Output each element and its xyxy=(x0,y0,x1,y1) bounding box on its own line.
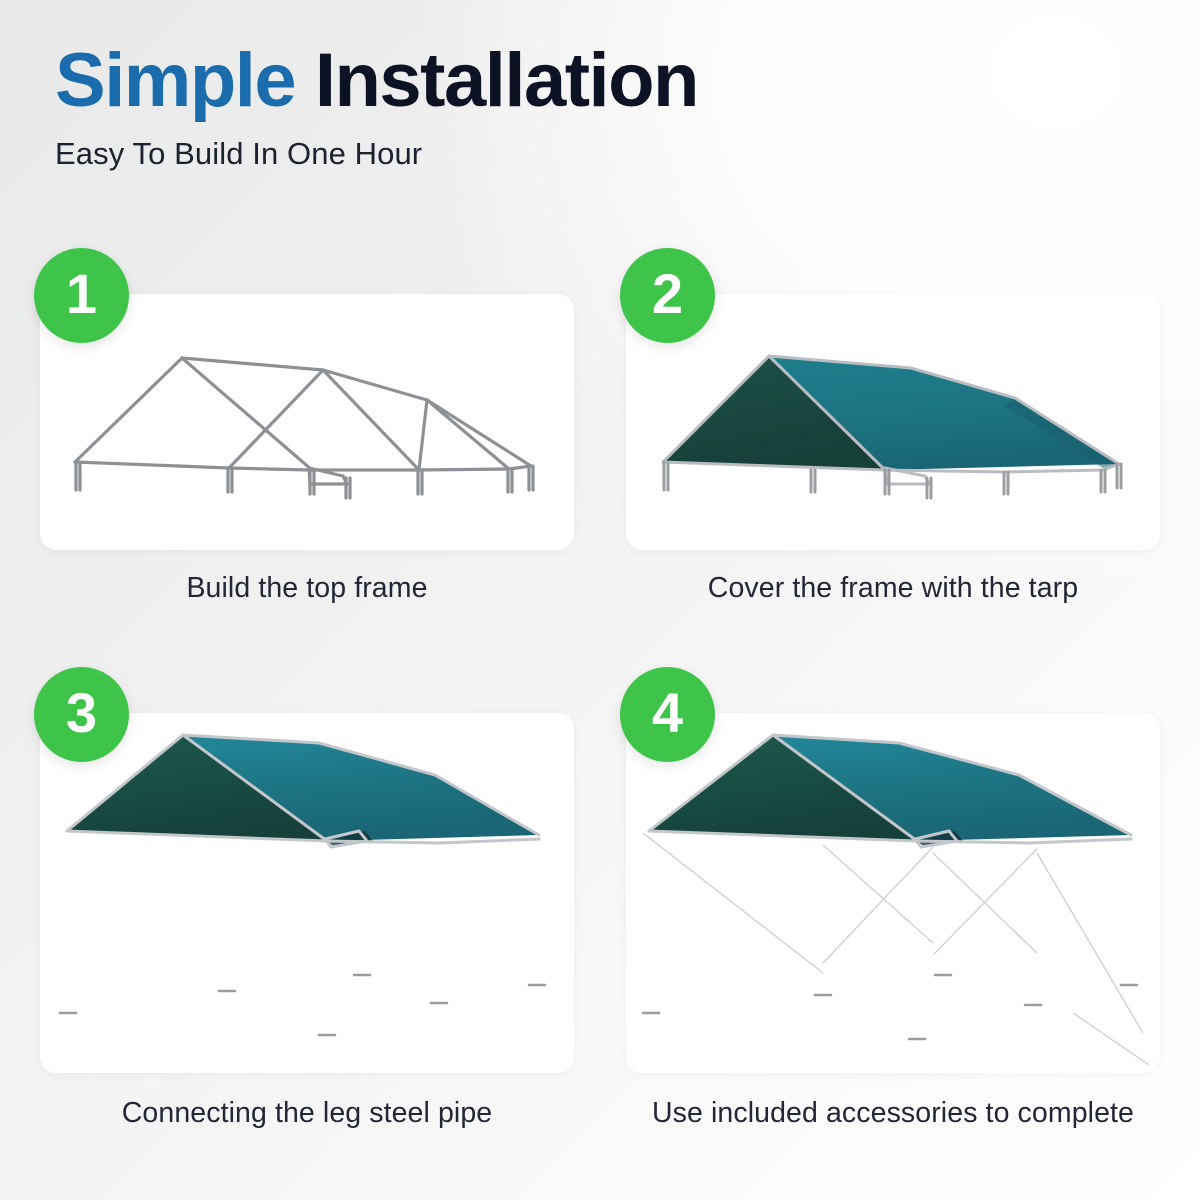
step-caption-2: Cover the frame with the tarp xyxy=(626,550,1160,605)
page-title-rest: Installation xyxy=(315,38,698,123)
step-illustration-card-1 xyxy=(40,294,574,550)
canopy-top-frame-skeleton-illustration xyxy=(40,294,574,550)
step-card-2: 2 xyxy=(626,248,1160,605)
step-caption-3: Connecting the leg steel pipe xyxy=(40,1073,574,1130)
page-title-highlight: Simple xyxy=(55,38,295,123)
page-subtitle: Easy To Build In One Hour xyxy=(55,118,1055,172)
step-illustration-card-4 xyxy=(626,713,1160,1073)
step-illustration-card-3 xyxy=(40,713,574,1073)
step-card-3: 3 xyxy=(40,667,574,1130)
canopy-with-legs-illustration xyxy=(40,713,574,1073)
step-number-badge-2: 2 xyxy=(620,248,715,343)
step-card-4: 4 xyxy=(626,667,1160,1130)
canopy-complete-with-guy-wires-illustration xyxy=(626,713,1160,1073)
steps-grid: 1 xyxy=(0,248,1200,1130)
infographic-page: Simple Installation Easy To Build In One… xyxy=(0,0,1200,1200)
canopy-frame-with-tarp-illustration xyxy=(626,294,1160,550)
step-number-badge-4: 4 xyxy=(620,667,715,762)
step-caption-4: Use included accessories to complete xyxy=(626,1073,1160,1130)
step-illustration-card-2 xyxy=(626,294,1160,550)
step-card-1: 1 xyxy=(40,248,574,605)
step-number-badge-3: 3 xyxy=(34,667,129,762)
page-header: Simple Installation Easy To Build In One… xyxy=(55,44,1055,172)
page-title: Simple Installation xyxy=(55,44,1055,118)
step-caption-1: Build the top frame xyxy=(40,550,574,605)
step-number-badge-1: 1 xyxy=(34,248,129,343)
